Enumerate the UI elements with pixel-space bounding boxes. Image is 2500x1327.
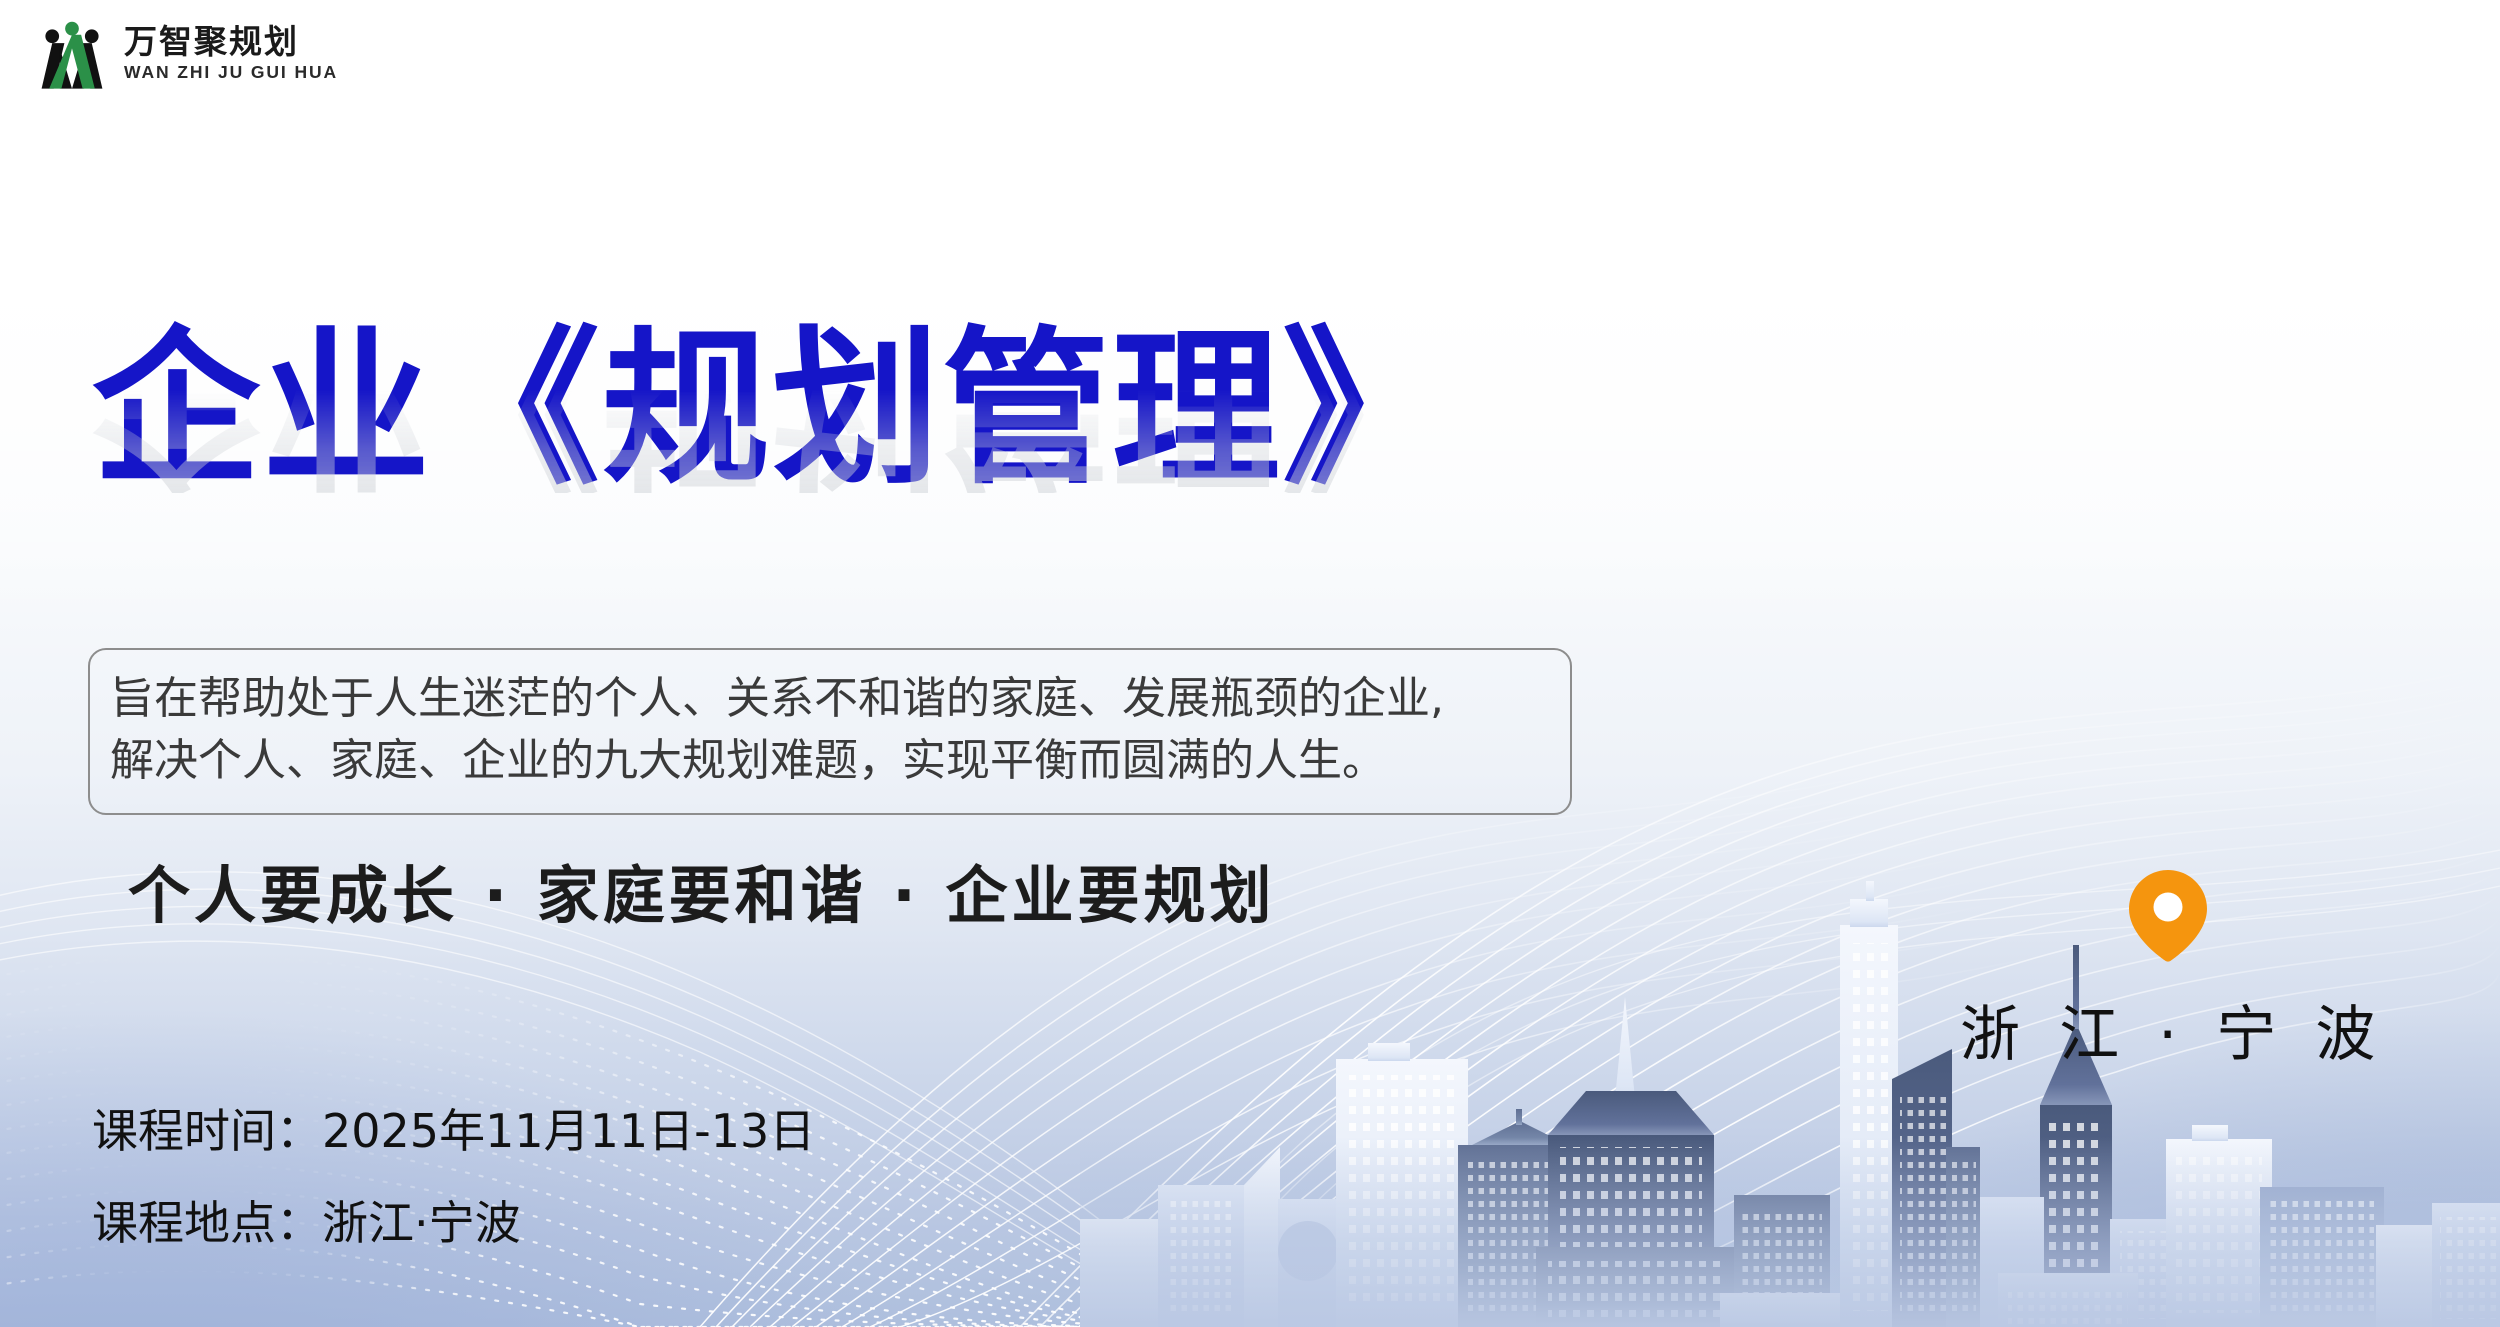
poster-canvas: 万智聚规划 WAN ZHI JU GUI HUA 企业《规划管理》 企业《规划管… (0, 0, 2500, 1327)
slogan-text: 个人要成长 · 家庭要和谐 · 企业要规划 (128, 845, 1275, 935)
brand-name-cn: 万智聚规划 (124, 24, 338, 60)
brand-logo-text: 万智聚规划 WAN ZHI JU GUI HUA (124, 24, 338, 85)
location-city: 浙 江 · 宁 波 (1950, 986, 2385, 1073)
hero-title-block: 企业《规划管理》 企业《规划管理》 (92, 325, 1452, 611)
course-place: 课程地点：浙江·宁波 (92, 1200, 815, 1246)
page-title-reflection: 企业《规划管理》 (92, 375, 1452, 493)
description-box: 旨在帮助处于人生迷茫的个人、关系不和谐的家庭、发展瓶颈的企业, 解决个人、家庭、… (88, 648, 1572, 815)
brand-name-en: WAN ZHI JU GUI HUA (124, 62, 338, 84)
three-people-logo-icon (34, 18, 110, 90)
course-info: 课程时间：2025年11月11日-13日 课程地点：浙江·宁波 (92, 1108, 815, 1246)
map-pin-icon (2129, 870, 2207, 962)
brand-logo[interactable]: 万智聚规划 WAN ZHI JU GUI HUA (34, 18, 338, 90)
description-line-2: 解决个人、家庭、企业的九大规划难题，实现平衡而圆满的人生。 (110, 730, 1550, 792)
description-line-1: 旨在帮助处于人生迷茫的个人、关系不和谐的家庭、发展瓶颈的企业, (110, 668, 1550, 730)
course-time: 课程时间：2025年11月11日-13日 (92, 1108, 815, 1154)
location-badge: 浙 江 · 宁 波 (1950, 870, 2385, 1073)
